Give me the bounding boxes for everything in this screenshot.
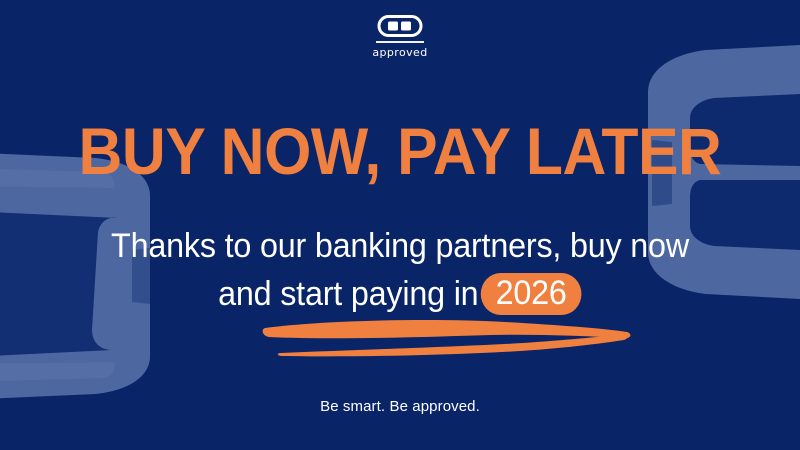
tagline: Be smart. Be approved. xyxy=(0,398,800,415)
brand-name: approved xyxy=(372,46,427,59)
page-title: BUY NOW, PAY LATER xyxy=(32,118,768,184)
subheading-line-1: Thanks to our banking partners, buy now xyxy=(20,222,780,270)
subheading: Thanks to our banking partners, buy now … xyxy=(0,222,800,318)
car-top-view-icon xyxy=(377,14,423,38)
brand-divider xyxy=(376,41,424,43)
underline-swoosh-icon xyxy=(255,310,635,358)
promo-banner: approved BUY NOW, PAY LATER Thanks to ou… xyxy=(0,0,800,450)
highlight-year-badge: 2026 xyxy=(480,273,582,315)
brand-logo: approved xyxy=(0,14,800,59)
